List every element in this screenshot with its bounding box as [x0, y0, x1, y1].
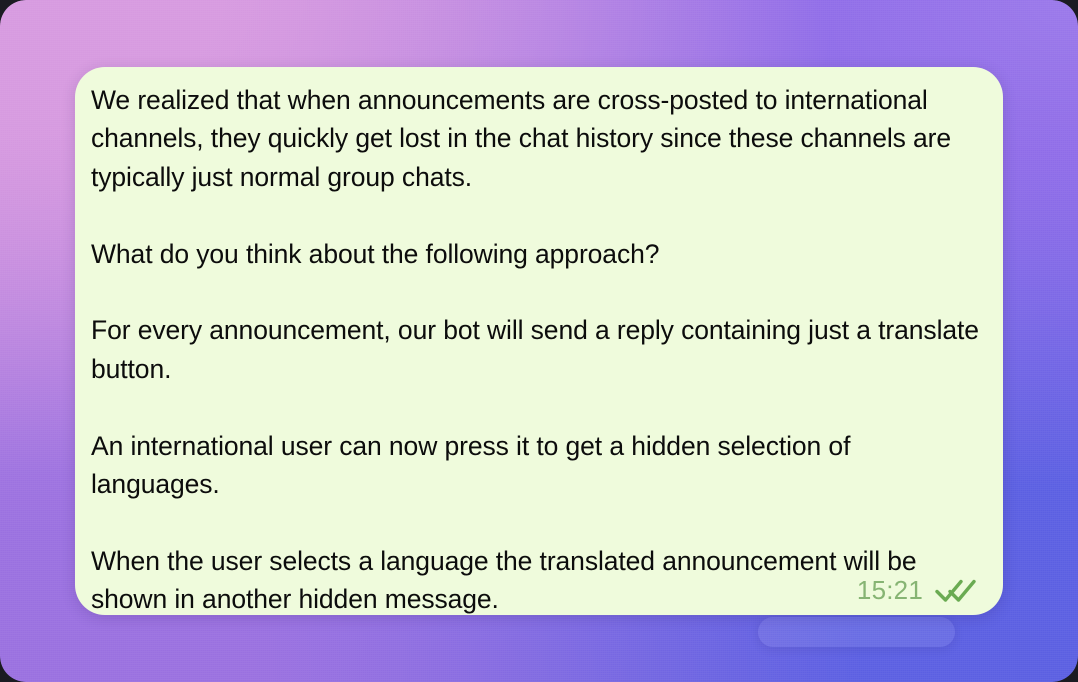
message-body-text: We realized that when announcements are …	[91, 81, 981, 619]
double-check-icon	[935, 577, 977, 603]
outgoing-message-bubble[interactable]: We realized that when announcements are …	[75, 67, 1003, 615]
partial-message-bubble-below[interactable]	[758, 617, 955, 647]
chat-window: We realized that when announcements are …	[0, 0, 1078, 682]
message-timestamp: 15:21	[857, 577, 923, 603]
message-meta: 15:21	[857, 577, 977, 603]
